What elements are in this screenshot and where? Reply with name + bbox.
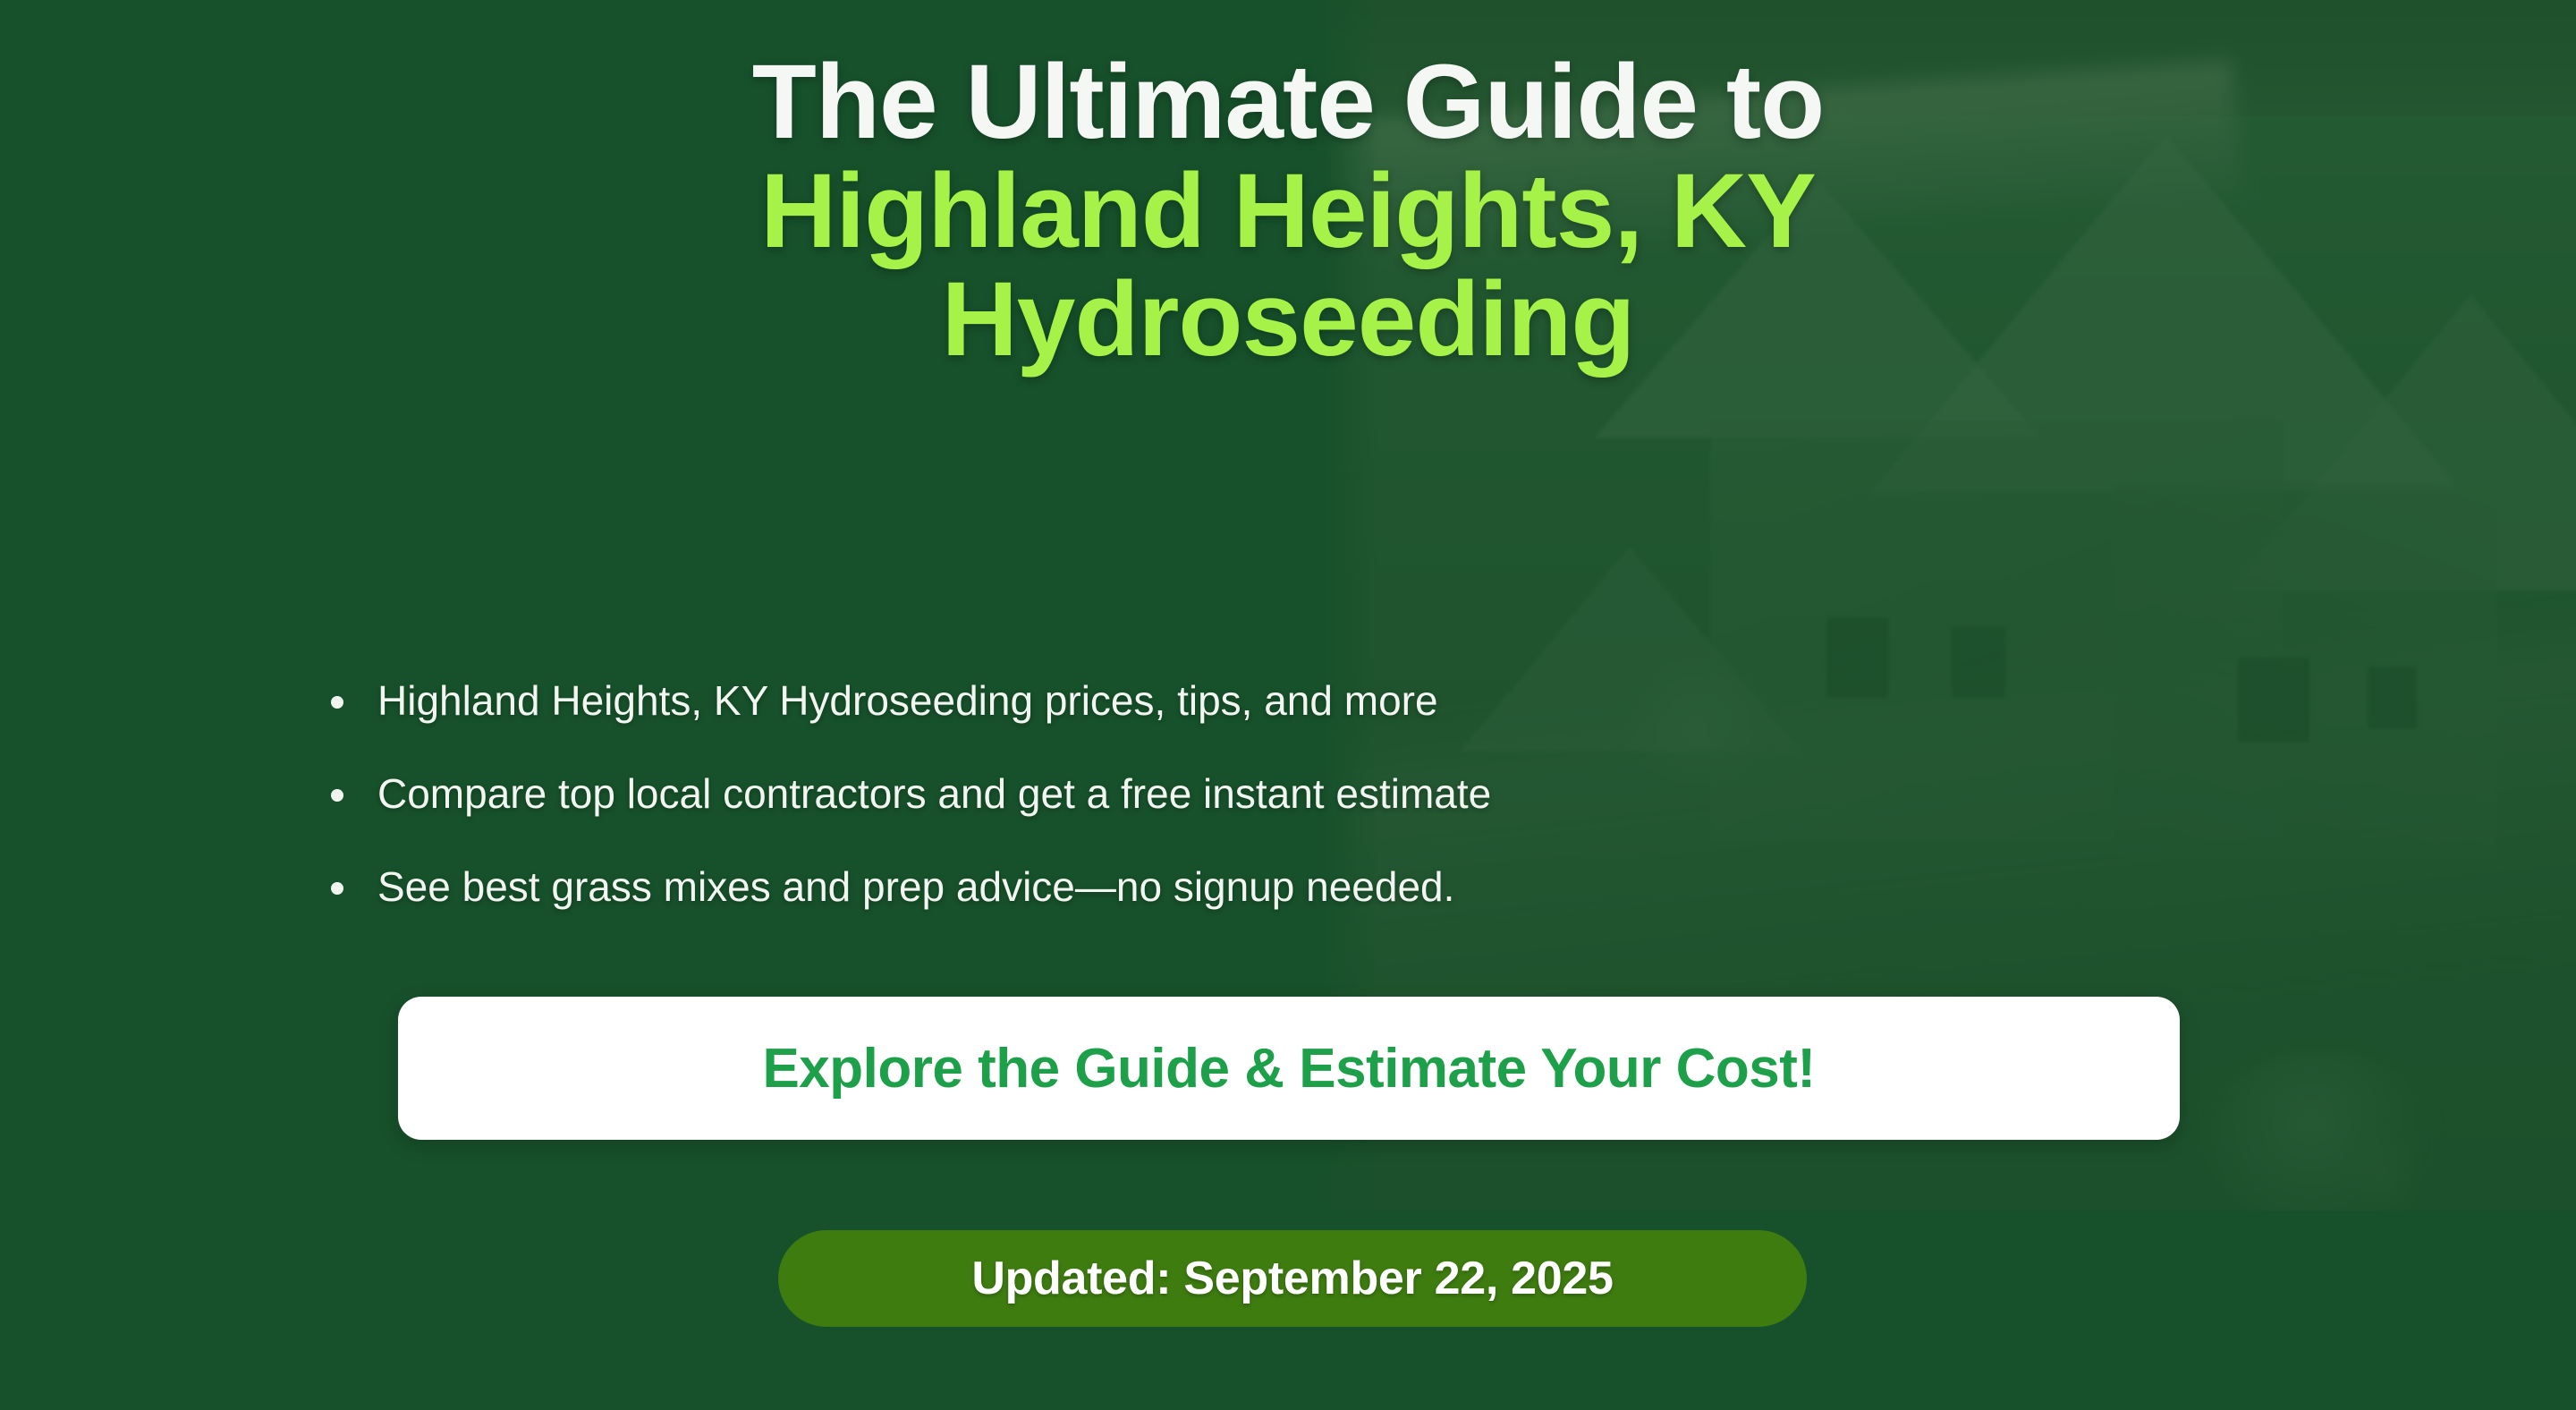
benefits-list: Highland Heights, KY Hydroseeding prices… — [322, 680, 1491, 959]
explore-guide-cta-button[interactable]: Explore the Guide & Estimate Your Cost! — [398, 997, 2180, 1140]
title-line-2: Highland Heights, KY — [179, 157, 2397, 267]
hero-banner: The Ultimate Guide to Highland Heights, … — [0, 0, 2576, 1410]
title-line-1: The Ultimate Guide to — [179, 48, 2397, 157]
list-item: See best grass mixes and prep advice—no … — [322, 866, 1491, 907]
list-item: Compare top local contractors and get a … — [322, 773, 1491, 814]
last-updated-badge: Updated: September 22, 2025 — [778, 1230, 1807, 1327]
page-title: The Ultimate Guide to Highland Heights, … — [0, 48, 2576, 375]
title-line-3: Hydroseeding — [179, 266, 2397, 375]
list-item: Highland Heights, KY Hydroseeding prices… — [322, 680, 1491, 721]
